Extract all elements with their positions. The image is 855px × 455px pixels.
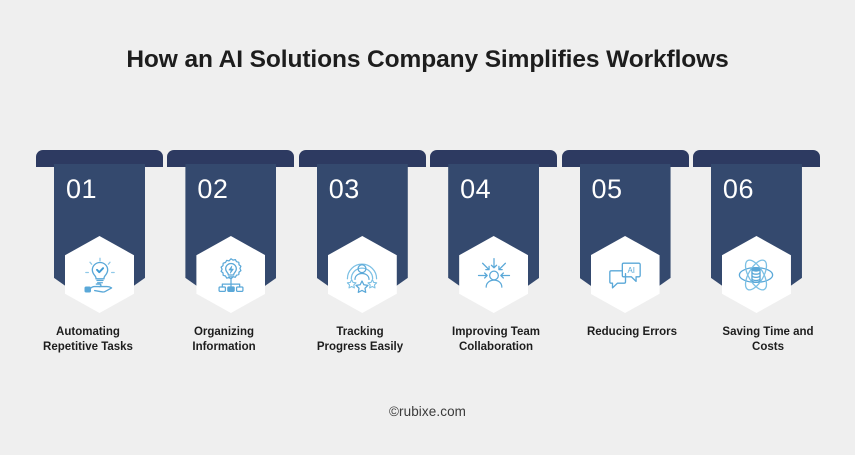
caption-line: Organizing xyxy=(156,325,292,340)
caption-line: Improving Team xyxy=(428,325,564,340)
step-caption-01: Automating Repetitive Tasks xyxy=(20,325,156,355)
caption-line: Reducing Errors xyxy=(564,325,700,340)
infographic-canvas: How an AI Solutions Company Simplifies W… xyxy=(0,0,855,455)
step-number: 05 xyxy=(562,174,653,205)
svg-text:AI: AI xyxy=(628,265,635,274)
atom-database-icon xyxy=(735,254,777,296)
caption-line: Progress Easily xyxy=(292,340,428,355)
caption-line: Collaboration xyxy=(428,340,564,355)
caption-line: Repetitive Tasks xyxy=(20,340,156,355)
lightbulb-check-in-hand-icon xyxy=(80,255,120,295)
step-number: 02 xyxy=(167,174,258,205)
captions-row: Automating Repetitive Tasks Organizing I… xyxy=(20,325,836,355)
step-caption-03: Tracking Progress Easily xyxy=(292,325,428,355)
caption-line: Costs xyxy=(700,340,836,355)
step-number: 01 xyxy=(36,174,127,205)
person-inward-arrows-icon xyxy=(474,255,514,295)
step-number: 03 xyxy=(299,174,390,205)
footer-watermark: ©rubixe.com xyxy=(0,404,855,419)
step-number: 06 xyxy=(693,174,784,205)
gear-lightbulb-network-icon xyxy=(211,255,251,295)
step-caption-04: Improving Team Collaboration xyxy=(428,325,564,355)
step-caption-02: Organizing Information xyxy=(156,325,292,355)
ai-chat-bubbles-icon: AI xyxy=(605,255,645,295)
caption-line: Tracking xyxy=(292,325,428,340)
step-caption-05: Reducing Errors xyxy=(564,325,700,355)
caption-line: Information xyxy=(156,340,292,355)
step-number: 04 xyxy=(430,174,521,205)
caption-line: Saving Time and xyxy=(700,325,836,340)
page-title: How an AI Solutions Company Simplifies W… xyxy=(0,45,855,74)
caption-line: Automating xyxy=(20,325,156,340)
step-caption-06: Saving Time and Costs xyxy=(700,325,836,355)
person-stars-rating-icon xyxy=(342,255,382,295)
